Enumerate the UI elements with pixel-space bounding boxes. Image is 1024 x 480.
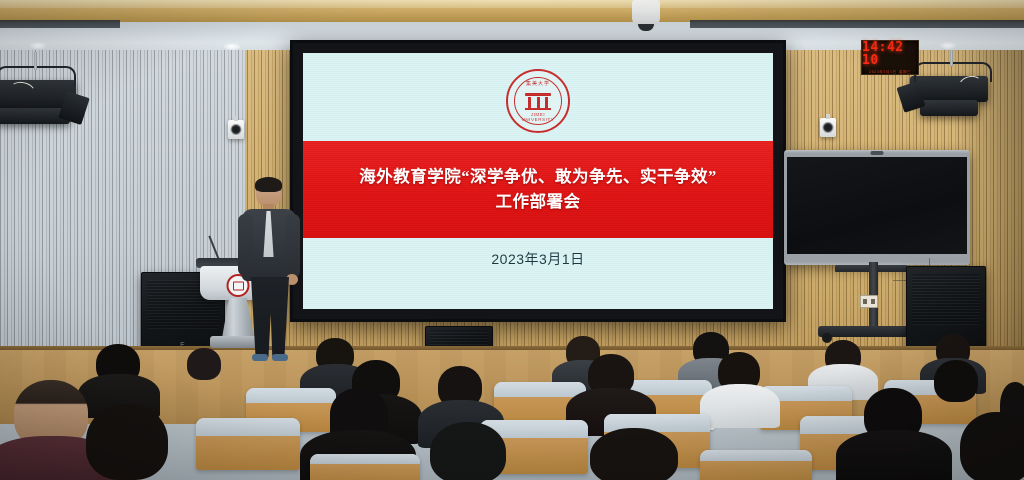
slide-title-line2: 工作部署会 <box>488 190 589 215</box>
tv-camera-icon <box>871 151 884 155</box>
seat[interactable] <box>196 418 300 470</box>
presenter-arm-left <box>238 214 253 276</box>
logo-top-text: 集美大学 <box>515 82 561 87</box>
projection-screen: 集美大学 JIMEI UNIVERSITY 海外教育学院“深学争优、敢为争先、实… <box>290 40 786 322</box>
slide-title-line1: 海外教育学院“深学争优、敢为争先、实干争效” <box>351 165 725 190</box>
tv-screen <box>787 157 967 254</box>
wall-camera-left <box>228 120 244 139</box>
attendee-head-front <box>590 428 678 480</box>
light-pole <box>950 50 953 66</box>
attendee-head-front <box>430 422 506 480</box>
ceiling-beam-right <box>690 20 1024 28</box>
presenter-trousers <box>251 277 289 357</box>
attendee-body <box>700 384 780 428</box>
presenter-arm-right <box>285 214 300 278</box>
downlight-5 <box>940 42 956 49</box>
tv-stand-wheel-left <box>822 333 832 343</box>
presenter-shoe-right <box>272 354 288 361</box>
attendee-head <box>934 360 978 402</box>
ceiling-light-strip <box>0 0 1024 8</box>
led-wall-clock: 14:42 10 2023年3月1日 星期三 <box>861 40 919 75</box>
attendee-body <box>836 430 952 480</box>
wall-display-tv <box>784 150 970 265</box>
light-pole <box>34 52 37 70</box>
university-logo-icon: 集美大学 JIMEI UNIVERSITY <box>506 69 570 133</box>
presentation-slide: 集美大学 JIMEI UNIVERSITY 海外教育学院“深学争优、敢为争先、实… <box>303 53 773 309</box>
light-yoke-icon <box>0 66 76 86</box>
auditorium-photo: 14:42 10 2023年3月1日 星期三 集美大学 JIMEI UNIVER… <box>0 0 1024 480</box>
camera-lens-icon <box>231 124 242 135</box>
seat[interactable] <box>700 450 812 480</box>
attendee-head-front <box>86 404 168 480</box>
presenter-hair <box>255 177 282 192</box>
presenter-person <box>238 178 300 366</box>
presenter-shoe-left <box>252 354 268 361</box>
downlight-1 <box>30 42 46 49</box>
wall-camera-right <box>820 118 836 137</box>
ceiling-projector <box>632 0 660 26</box>
clock-time: 14:42 10 <box>862 41 918 67</box>
camera-mount-icon <box>234 116 238 121</box>
attendee-head <box>187 348 221 380</box>
fixture-lower-icon <box>920 100 978 116</box>
camera-lens-icon <box>823 122 834 133</box>
slide-date: 2023年3月1日 <box>303 249 773 269</box>
slide-title-band: 海外教育学院“深学争优、敢为争先、实干争效” 工作部署会 <box>303 141 773 238</box>
logo-inner-ring: 集美大学 JIMEI UNIVERSITY <box>514 77 562 125</box>
camera-mount-icon <box>826 114 830 119</box>
logo-gate-icon <box>527 93 549 110</box>
downlight-2 <box>224 43 240 50</box>
stage-light-left <box>0 58 100 148</box>
ceiling-beam-left <box>0 20 120 28</box>
attendee-head-front <box>960 412 1024 480</box>
clock-date: 2023年3月1日 星期三 <box>869 70 911 75</box>
seat[interactable] <box>310 454 420 480</box>
wall-outlet <box>860 295 878 308</box>
logo-arc-text: JIMEI UNIVERSITY <box>515 112 561 122</box>
